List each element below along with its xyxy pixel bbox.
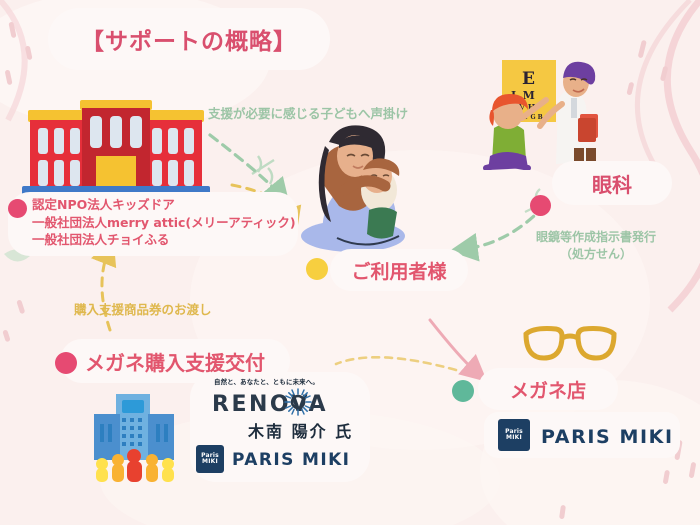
- outreach-arrow-label: 支援が必要に感じる子どもへ声掛け: [208, 103, 408, 122]
- prescription-arrow-label: 眼鏡等作成指示書発行（処方せん）: [536, 229, 656, 263]
- renova-tagline: 自然と、あなたと、ともに未来へ。: [214, 377, 319, 386]
- mother-and-child-illustration: [285, 118, 420, 253]
- paris-miki-wordmark-left: PARIS MIKI: [232, 450, 350, 470]
- svg-text:E: E: [522, 69, 535, 89]
- eye-clinic-bullet-dot: [530, 195, 551, 216]
- page-title-pill: 【サポートの概略】: [48, 8, 330, 70]
- eye-clinic-pill: 眼科: [552, 161, 672, 205]
- user-label: ご利用者様: [351, 257, 446, 284]
- infographic-canvas: E L M T V H O P T G B: [0, 0, 700, 525]
- paris-miki-badge-text-right: ParisMIKI: [505, 429, 523, 441]
- eyeglasses-illustration: [520, 322, 620, 368]
- school-building-illustration: [16, 100, 216, 200]
- paris-miki-badge-icon-right: ParisMIKI: [498, 419, 530, 451]
- glasses-shop-pill: メガネ店: [478, 368, 618, 410]
- renova-sunburst-icon: [283, 387, 313, 417]
- paris-miki-wordmark-right: PARIS MIKI: [541, 426, 674, 448]
- user-bullet-dot: [306, 258, 328, 280]
- page-title: 【サポートの概略】: [81, 22, 297, 56]
- paris-miki-badge-icon-left: ParisMIKI: [196, 445, 224, 473]
- glasses-shop-bullet-dot: [452, 380, 474, 402]
- grant-bullet-dot: [55, 352, 77, 374]
- community-center-illustration: [86, 392, 206, 482]
- renova-person-name: 木南 陽介 氏: [248, 418, 353, 442]
- paris-miki-badge-text-left: ParisMIKI: [201, 453, 219, 465]
- user-pill: ご利用者様: [330, 249, 468, 291]
- eye-clinic-label: 眼科: [592, 169, 632, 198]
- glasses-shop-label: メガネ店: [510, 376, 586, 403]
- organizations-bullet-dot: [8, 199, 27, 218]
- voucher-arrow-label: 購入支援商品券のお渡し: [74, 299, 212, 318]
- eye-exam-illustration: E L M T V H O P T G B: [478, 52, 603, 170]
- organizations-list: 認定NPO法人キッズドア一般社団法人merry attic(メリーアティック)一…: [32, 196, 296, 249]
